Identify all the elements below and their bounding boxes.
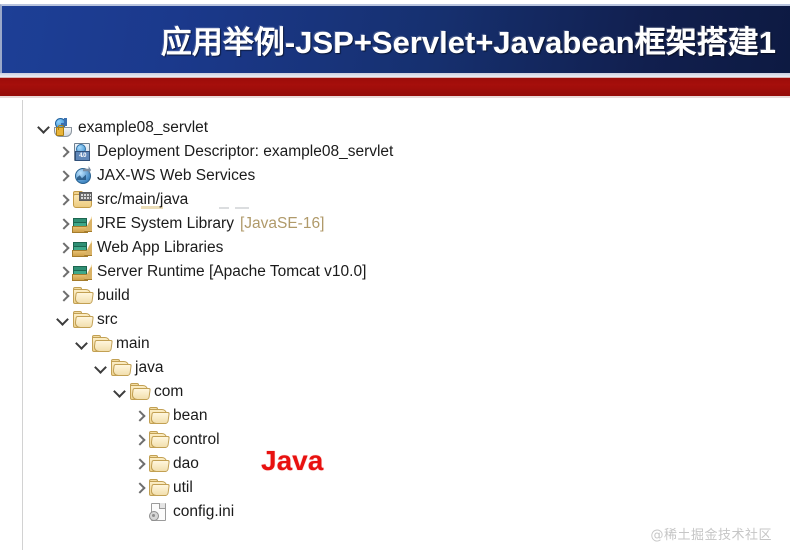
chevron-right-icon[interactable]: [55, 212, 72, 236]
tree-row[interactable]: JRE System Library[JavaSE-16]: [23, 212, 790, 236]
folder-icon: [148, 430, 168, 450]
chevron-right-icon[interactable]: [55, 236, 72, 260]
folder-icon: [148, 454, 168, 474]
tree-row-label: control: [173, 431, 220, 450]
tree-row[interactable]: src/main/java: [23, 188, 790, 212]
tree-row[interactable]: src: [23, 308, 790, 332]
tree-row-label: Web App Libraries: [97, 239, 223, 258]
chevron-right-icon[interactable]: [131, 452, 148, 476]
tree-row-label: bean: [173, 407, 207, 426]
chevron-right-icon[interactable]: [55, 140, 72, 164]
library-icon: [72, 262, 92, 282]
annotation-java: Java: [261, 445, 323, 477]
tree-row-label: build: [97, 287, 130, 306]
tree-row[interactable]: Web App Libraries: [23, 236, 790, 260]
tree-row[interactable]: util: [23, 476, 790, 500]
folder-icon: [148, 406, 168, 426]
chevron-right-icon[interactable]: [55, 260, 72, 284]
folder-icon: [72, 310, 92, 330]
library-icon: [72, 214, 92, 234]
tree-row[interactable]: example08_servlet: [23, 116, 790, 140]
project-explorer-tree[interactable]: example08_servlet4.0Deployment Descripto…: [23, 100, 790, 524]
jax-ws-icon: [72, 166, 92, 186]
chevron-right-icon[interactable]: [55, 284, 72, 308]
chevron-right-icon[interactable]: [55, 188, 72, 212]
tree-row-label: main: [116, 335, 150, 354]
tree-row-label: src/main/java: [97, 191, 188, 210]
tree-row[interactable]: com: [23, 380, 790, 404]
slide-header: 应用举例-JSP+Servlet+Javabean框架搭建1: [0, 0, 790, 96]
chevron-right-icon[interactable]: [131, 428, 148, 452]
source-folder-icon: [72, 190, 92, 210]
tree-row[interactable]: java: [23, 356, 790, 380]
folder-icon: [72, 286, 92, 306]
tree-row[interactable]: config.ini: [23, 500, 790, 524]
tree-row-label: src: [97, 311, 118, 330]
chevron-right-icon[interactable]: [55, 164, 72, 188]
tree-row[interactable]: dao: [23, 452, 790, 476]
tree-row[interactable]: JAX-WS Web Services: [23, 164, 790, 188]
tree-row-label: JRE System Library: [97, 215, 234, 234]
watermark: @稀土掘金技术社区: [650, 524, 772, 543]
chevron-down-icon[interactable]: [36, 116, 53, 140]
chevron-right-icon[interactable]: [131, 476, 148, 500]
title-banner: 应用举例-JSP+Servlet+Javabean框架搭建1: [0, 4, 790, 73]
tree-row[interactable]: 4.0Deployment Descriptor: example08_serv…: [23, 140, 790, 164]
tree-row-label: com: [154, 383, 183, 402]
project-explorer-screenshot: example08_servlet4.0Deployment Descripto…: [22, 100, 790, 550]
tree-row[interactable]: build: [23, 284, 790, 308]
deployment-descriptor-icon: 4.0: [72, 142, 92, 162]
tree-row-label: Deployment Descriptor: example08_servlet: [97, 143, 393, 162]
folder-icon: [148, 478, 168, 498]
twisty-spacer: [131, 500, 148, 524]
chevron-right-icon[interactable]: [131, 404, 148, 428]
tree-row-label: java: [135, 359, 163, 378]
web-project-icon: [53, 118, 73, 138]
chevron-down-icon[interactable]: [74, 332, 91, 356]
tree-row-label: config.ini: [173, 503, 234, 522]
tree-row[interactable]: main: [23, 332, 790, 356]
tree-row[interactable]: Server Runtime [Apache Tomcat v10.0]: [23, 260, 790, 284]
tree-row-label: util: [173, 479, 193, 498]
folder-icon: [110, 358, 130, 378]
folder-icon: [129, 382, 149, 402]
page-title: 应用举例-JSP+Servlet+Javabean框架搭建1: [161, 17, 790, 62]
tree-row-label: example08_servlet: [78, 119, 208, 138]
accent-bar-shadow: [0, 96, 790, 98]
accent-bar: [0, 77, 790, 97]
tree-row[interactable]: bean: [23, 404, 790, 428]
tree-row-suffix: [JavaSE-16]: [240, 215, 324, 233]
tree-row-label: JAX-WS Web Services: [97, 167, 255, 186]
chevron-down-icon[interactable]: [55, 308, 72, 332]
chevron-down-icon[interactable]: [93, 356, 110, 380]
tree-row-label: dao: [173, 455, 199, 474]
tree-row[interactable]: control: [23, 428, 790, 452]
folder-icon: [91, 334, 111, 354]
tree-row-label: Server Runtime [Apache Tomcat v10.0]: [97, 263, 366, 282]
chevron-down-icon[interactable]: [112, 380, 129, 404]
library-icon: [72, 238, 92, 258]
file-icon: [148, 502, 168, 522]
